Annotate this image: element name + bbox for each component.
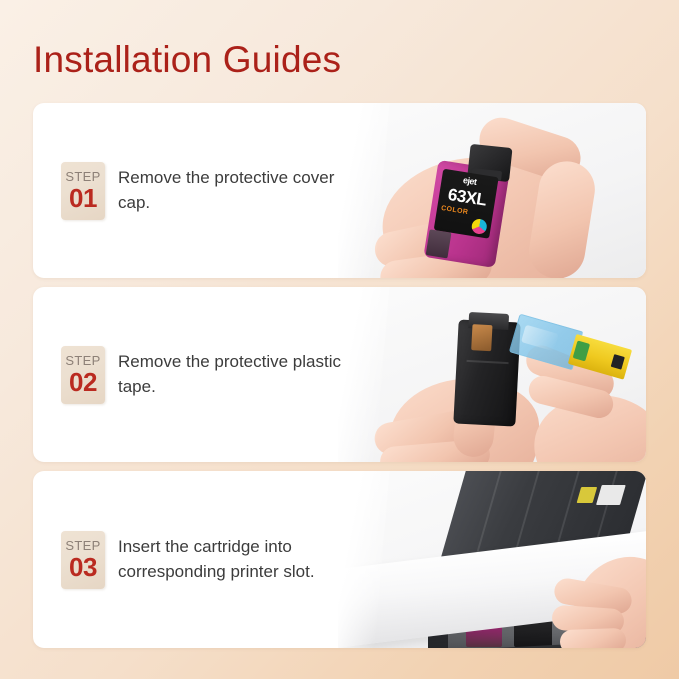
step-badge-2: STEP 02 bbox=[61, 346, 105, 404]
step-row: STEP 03 Insert the cartridge into corres… bbox=[33, 531, 353, 589]
tab-black-mark bbox=[611, 354, 625, 370]
page-title: Installation Guides bbox=[33, 38, 341, 82]
step-description: Remove the protective cover cap. bbox=[118, 166, 353, 215]
cartridge-label: ejet 63XL COLOR bbox=[434, 169, 499, 239]
step-badge-3: STEP 03 bbox=[61, 531, 105, 589]
ink-cartridge bbox=[453, 319, 520, 426]
step-number: 01 bbox=[69, 185, 97, 211]
color-wheel-icon bbox=[471, 218, 488, 235]
installation-guide-page: Installation Guides ejet 63 bbox=[0, 0, 679, 679]
step-3-text-zone: STEP 03 Insert the cartridge into corres… bbox=[33, 471, 393, 648]
step-row: STEP 02 Remove the protective plastic ta… bbox=[33, 346, 353, 404]
step-number: 02 bbox=[69, 369, 97, 395]
step-description: Insert the cartridge into corresponding … bbox=[118, 535, 353, 584]
step-2-text-zone: STEP 02 Remove the protective plastic ta… bbox=[33, 287, 393, 462]
step-card-3: STEP 03 Insert the cartridge into corres… bbox=[33, 471, 646, 648]
tray-sticker bbox=[577, 487, 598, 503]
tray-sticker bbox=[596, 485, 626, 505]
finger-shape bbox=[560, 628, 627, 648]
cartridge-contacts bbox=[471, 324, 492, 351]
step-row: STEP 01 Remove the protective cover cap. bbox=[33, 162, 353, 220]
step-card-1: ejet 63XL COLOR STEP 01 bbox=[33, 103, 646, 278]
step-word: STEP bbox=[65, 170, 100, 184]
step-1-text-zone: STEP 01 Remove the protective cover cap. bbox=[33, 103, 393, 278]
step-badge-1: STEP 01 bbox=[61, 162, 105, 220]
step-number: 03 bbox=[69, 554, 97, 580]
step-card-2: STEP 02 Remove the protective plastic ta… bbox=[33, 287, 646, 462]
tab-green-mark bbox=[573, 340, 590, 361]
cartridge-nozzle bbox=[426, 229, 452, 258]
step-description: Remove the protective plastic tape. bbox=[118, 350, 353, 399]
step-word: STEP bbox=[65, 539, 100, 553]
cartridge-brand: ejet bbox=[462, 175, 477, 188]
step-word: STEP bbox=[65, 354, 100, 368]
